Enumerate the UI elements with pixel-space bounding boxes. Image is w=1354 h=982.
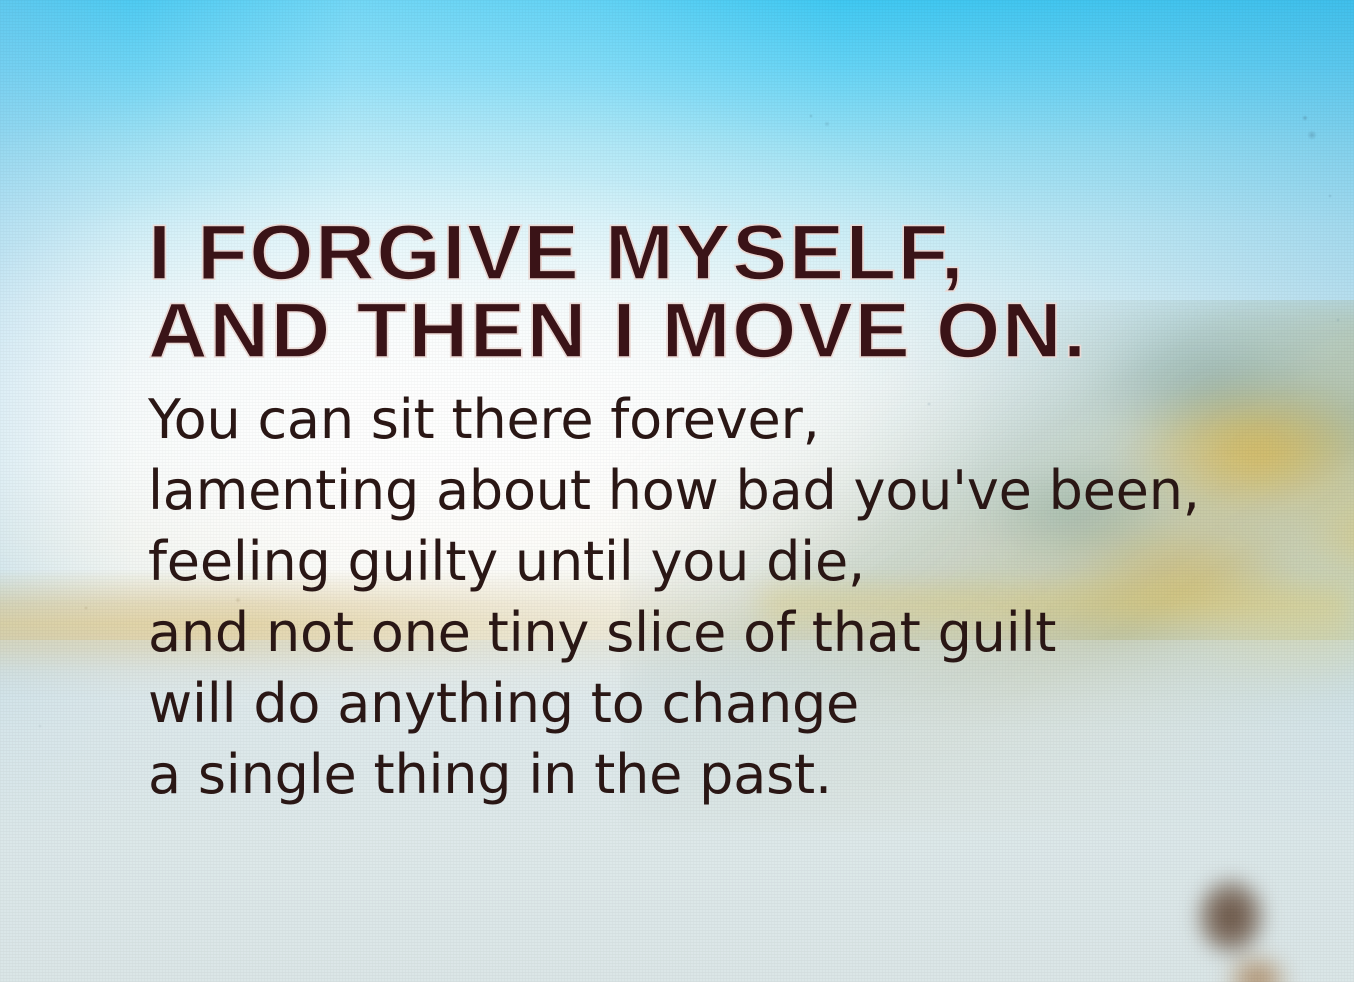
quote-block: I FORGIVE MYSELF, I FORGIVE MYSELF, AND … [148, 214, 1268, 810]
background-blurred-figure [1178, 868, 1298, 982]
body-line-2: lamenting about how bad you've been, [148, 455, 1268, 526]
headline-line-1-fill: I FORGIVE MYSELF, [148, 214, 965, 290]
body-line-1: You can sit there forever, [148, 384, 1268, 455]
body-line-4: and not one tiny slice of that guilt [148, 597, 1268, 668]
quote-poster: I FORGIVE MYSELF, I FORGIVE MYSELF, AND … [0, 0, 1354, 982]
quote-body: You can sit there forever, lamenting abo… [148, 384, 1268, 810]
headline-line-2: AND THEN I MOVE ON. AND THEN I MOVE ON. [148, 292, 1268, 368]
body-line-3: feeling guilty until you die, [148, 526, 1268, 597]
headline-line-1: I FORGIVE MYSELF, I FORGIVE MYSELF, [148, 214, 1268, 290]
body-line-6: a single thing in the past. [148, 739, 1268, 810]
body-line-5: will do anything to change [148, 668, 1268, 739]
headline-line-2-fill: AND THEN I MOVE ON. [148, 292, 1088, 368]
quote-headline: I FORGIVE MYSELF, I FORGIVE MYSELF, AND … [148, 214, 1268, 368]
